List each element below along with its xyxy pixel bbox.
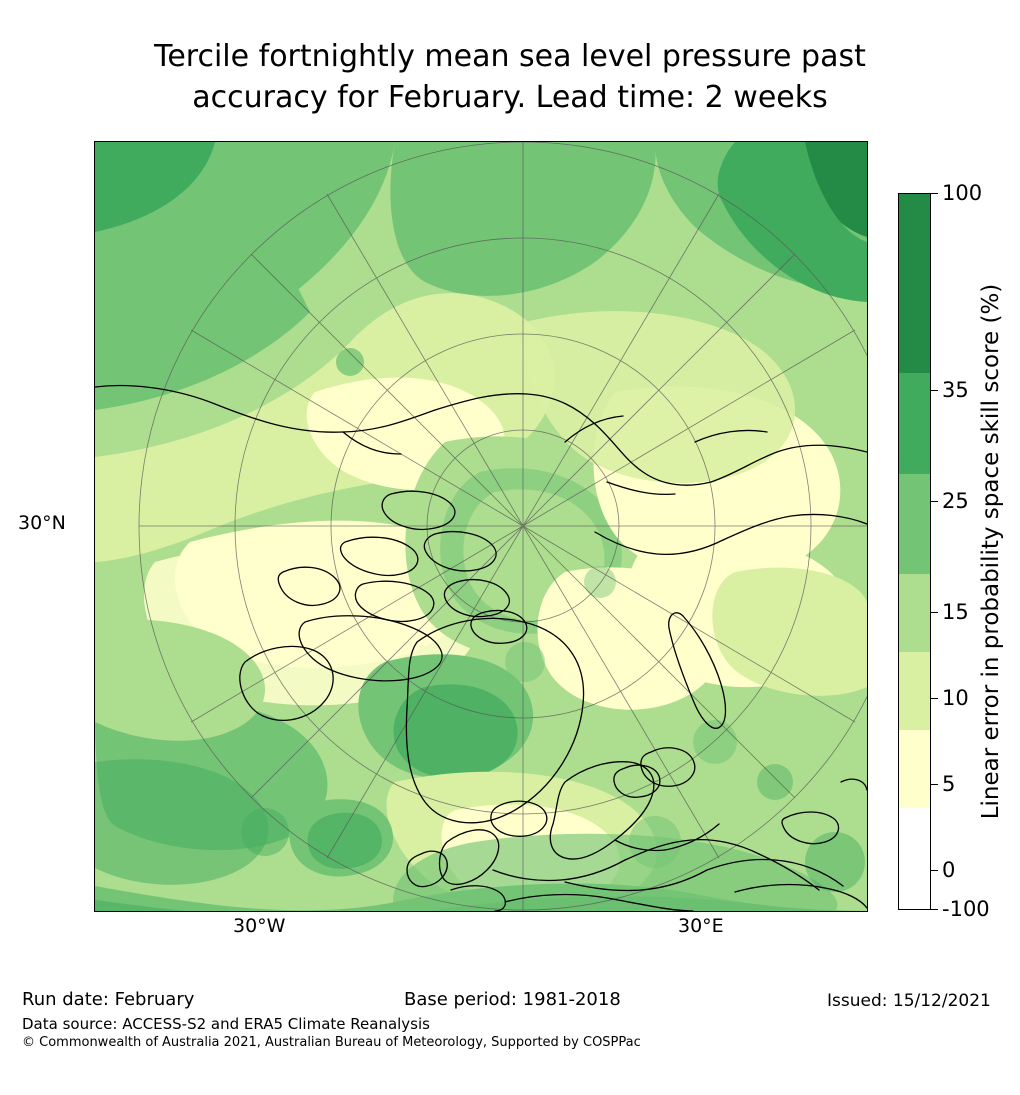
longitude-label-30w: 30°W bbox=[233, 915, 285, 937]
polar-stereographic-map bbox=[95, 142, 867, 911]
footer-issued-date: Issued: 15/12/2021 bbox=[827, 991, 991, 1011]
colorbar-tick-label-35: 35 bbox=[942, 378, 969, 402]
colorbar-band-neg100-0 bbox=[899, 808, 930, 909]
colorbar-band-15-25 bbox=[899, 474, 930, 575]
map-plot-area[interactable] bbox=[94, 141, 868, 912]
latitude-label-30n: 30°N bbox=[18, 512, 66, 534]
colorbar-axis-title: Linear error in probability space skill … bbox=[975, 193, 1008, 910]
colorbar-gradient bbox=[898, 193, 931, 910]
colorbar[interactable]: 100 35 25 15 10 5 0 -100 bbox=[898, 193, 931, 910]
colorbar-tick-mark-neg100 bbox=[931, 909, 938, 910]
colorbar-tick-mark-25 bbox=[931, 501, 938, 502]
colorbar-tick-mark-100 bbox=[931, 193, 938, 194]
colorbar-tick-mark-35 bbox=[931, 390, 938, 391]
longitude-label-30e: 30°E bbox=[678, 915, 724, 937]
colorbar-tick-label-15: 15 bbox=[942, 600, 969, 624]
colorbar-tick-mark-5 bbox=[931, 784, 938, 785]
footer-copyright: © Commonwealth of Australia 2021, Austra… bbox=[22, 1035, 641, 1050]
colorbar-band-35-100 bbox=[899, 194, 930, 373]
colorbar-tick-mark-0 bbox=[931, 870, 938, 871]
colorbar-tick-label-0: 0 bbox=[942, 858, 955, 882]
skill-score-field bbox=[95, 142, 867, 911]
page-title: Tercile fortnightly mean sea level press… bbox=[0, 36, 1020, 118]
colorbar-band-10-15 bbox=[899, 574, 930, 652]
footer-base-period: Base period: 1981-2018 bbox=[404, 989, 621, 1010]
colorbar-tick-label-10: 10 bbox=[942, 686, 969, 710]
colorbar-band-5-10 bbox=[899, 652, 930, 730]
colorbar-tick-mark-10 bbox=[931, 698, 938, 699]
colorbar-band-0-5 bbox=[899, 730, 930, 808]
colorbar-tick-label-5: 5 bbox=[942, 772, 955, 796]
footer-run-date: Run date: February bbox=[22, 989, 194, 1010]
colorbar-band-25-35 bbox=[899, 373, 930, 474]
colorbar-tick-label-25: 25 bbox=[942, 489, 969, 513]
footer-data-source: Data source: ACCESS-S2 and ERA5 Climate … bbox=[22, 1015, 430, 1033]
colorbar-tick-mark-15 bbox=[931, 612, 938, 613]
